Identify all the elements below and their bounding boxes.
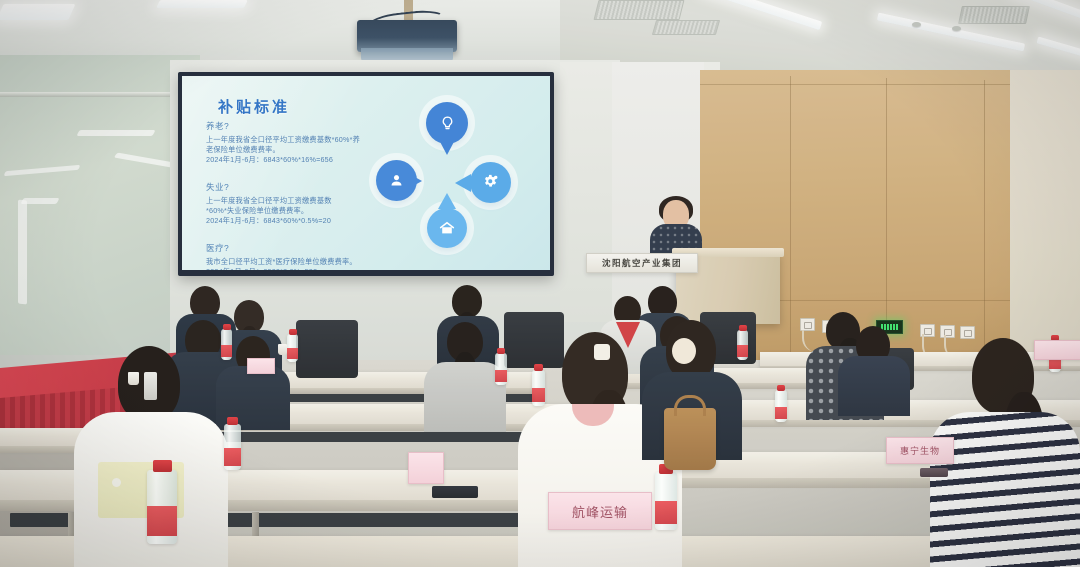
bottle-label [655,501,677,524]
slide-line-3-2: 2024年1月-6月：6900*8.6%=593 [206,267,357,270]
tshirt-flower-1 [112,478,121,487]
slide-line-1-2: 老保险单位缴费费率。 [206,145,360,155]
smoke-detector-2 [952,26,961,31]
handbag[interactable] [664,408,716,470]
bottle-cap [223,324,231,330]
water-bottle-4[interactable] [287,334,298,362]
bottle-cap [289,329,297,335]
hair-clip [594,344,610,360]
glass-reflection-4 [18,200,27,305]
projection-screen: 补贴标准 养老? 上一年度我省全口径平均工资缴费基数*60%*养 老保险单位缴费… [182,76,550,270]
podium-banner-text: 沈阳航空产业集团 [602,257,682,269]
slide-line-1-1: 上一年度我省全口径平均工资缴费基数*60%*养 [206,135,360,145]
bottle-cap [777,385,785,391]
bottle-cap [497,348,505,354]
pin-tail-top [438,138,456,155]
podium-banner: 沈阳航空产业集团 [586,253,698,273]
wood-seam-v3 [984,80,985,352]
pin-tail-right [455,174,471,192]
torso-striped [930,412,1080,567]
bag-handle [674,395,706,416]
pin-tail-bottom [438,193,456,209]
name-card-partial-2 [1034,340,1080,360]
paper-cup-1[interactable] [128,372,139,385]
water-bottle-9[interactable] [775,390,787,422]
glass-reflection-1 [76,130,155,136]
water-bottle-3[interactable] [221,329,232,360]
bottle-label [532,388,545,402]
notebook-on-desk[interactable] [432,486,478,498]
ceiling-vent-1 [594,0,685,20]
bottle-cap [227,417,238,425]
ceiling-light-2 [156,0,248,8]
bottle-label [147,506,177,536]
wall-socket-5[interactable] [960,326,975,339]
name-card-text: 惠宁生物 [900,444,940,457]
phone-on-desk[interactable] [920,468,948,477]
paper-cup-2[interactable] [278,344,287,355]
bottle-label [287,348,298,359]
slide-line-1-3: 2024年1月-6月：6843*60%*16%=656 [206,155,360,165]
ceiling-vent-2 [652,20,720,35]
water-bottle-5[interactable] [495,353,507,385]
pin-tail-left [406,172,422,190]
name-card-text: 航峰运输 [572,502,628,521]
slide-title: 补贴标准 [218,96,290,117]
chair-back-1 [296,320,358,378]
water-bottle-2[interactable] [224,424,241,470]
glass-reflection-5 [20,198,59,204]
hair-clip [144,372,157,400]
torso [838,356,910,416]
gear-icon [470,162,511,203]
name-card-hangfeng: 航峰运输 [548,492,652,530]
water-bottle-7[interactable] [655,472,677,530]
bottle-label [737,345,748,357]
slide-block-unemployment: 失业? 上一年度我省全口径平均工资缴费基数 *60%*失业保险单位缴费费率。 2… [206,181,332,227]
slide-block-pension: 养老? 上一年度我省全口径平均工资缴费基数*60%*养 老保险单位缴费费率。 2… [206,120,360,166]
slide-line-3-1: 我市全口径平均工资*医疗保险单位缴费费率。 [206,257,357,267]
bottle-label [224,448,241,466]
slide-question-3: 医疗? [206,242,357,254]
name-card-partial-1 [408,452,444,484]
bottle-label [221,345,232,357]
water-bottle-6[interactable] [532,370,545,406]
home-icon [427,208,467,248]
chair-back-2 [504,312,564,368]
bottle-cap [153,460,172,472]
slide-question-2: 失业? [206,181,332,193]
slide-question-1: 养老? [206,120,360,132]
water-bottle-1[interactable] [147,470,177,544]
name-card-huining: 惠宁生物 [886,437,954,464]
smoke-detector-1 [912,22,921,27]
bottle-label [775,407,787,419]
wood-seam-v2 [886,78,887,354]
bottle-cap [739,325,747,331]
bottle-cap [534,364,543,371]
hair-bun [672,338,696,364]
wood-seam-v1 [790,76,791,354]
name-card-partial-3 [247,358,275,374]
torso [424,362,506,432]
slide-line-2-3: 2024年1月-6月：6843*60%*0.5%=20 [206,216,332,226]
slide-block-medical: 医疗? 我市全口径平均工资*医疗保险单位缴费费率。 2024年1月-6月：690… [206,242,357,270]
ceiling-light-1 [0,4,76,20]
far-wall-panel [1010,70,1080,380]
bottle-label [495,370,507,382]
seminar-photo: 补贴标准 养老? 上一年度我省全口径平均工资缴费基数*60%*养 老保险单位缴费… [0,0,1080,567]
slide-line-2-1: 上一年度我省全口径平均工资缴费基数 [206,196,332,206]
ceiling-vent-3 [958,6,1030,24]
water-bottle-8[interactable] [737,330,748,360]
slide-line-2-2: *60%*失业保险单位缴费费率。 [206,206,332,216]
